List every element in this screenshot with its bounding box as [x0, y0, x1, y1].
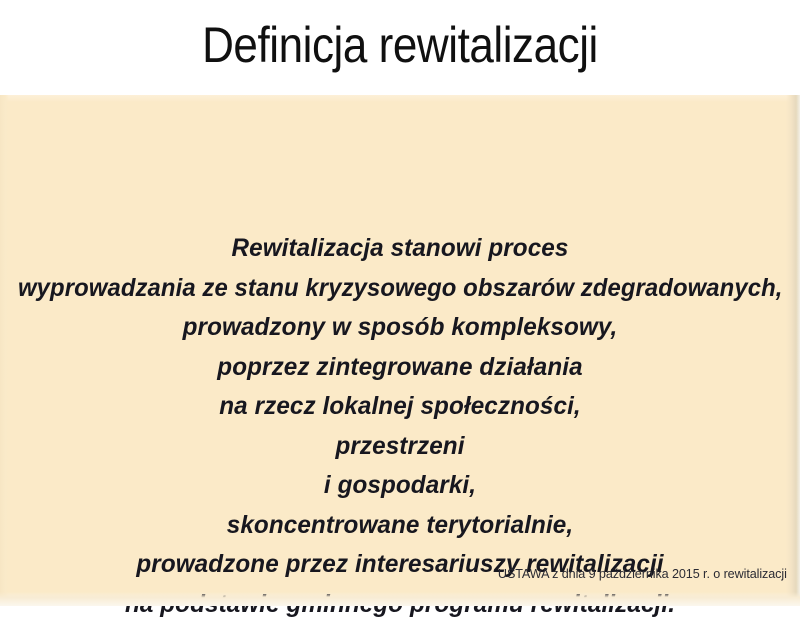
- definition-line: wyprowadzania ze stanu kryzysowego obsza…: [18, 269, 782, 309]
- definition-line: skoncentrowane terytorialnie,: [12, 506, 788, 546]
- presentation-slide: Definicja rewitalizacji Rewitalizacja st…: [0, 0, 800, 606]
- definition-line: na podstawie gminnego programu rewitaliz…: [12, 585, 788, 624]
- definition-panel: Rewitalizacja stanowi proces wyprowadzan…: [0, 95, 800, 600]
- source-citation: USTAWA z dnia 9 października 2015 r. o r…: [498, 566, 787, 581]
- definition-text-block: Rewitalizacja stanowi proces wyprowadzan…: [0, 229, 800, 624]
- definition-line: przestrzeni: [12, 427, 788, 467]
- definition-line: poprzez zintegrowane działania: [12, 348, 788, 388]
- definition-line: na rzecz lokalnej społeczności,: [12, 387, 788, 427]
- definition-line: i gospodarki,: [12, 466, 788, 506]
- definition-line: prowadzony w sposób kompleksowy,: [12, 308, 788, 348]
- definition-line: Rewitalizacja stanowi proces: [12, 229, 788, 269]
- page-title: Definicja rewitalizacji: [48, 14, 752, 76]
